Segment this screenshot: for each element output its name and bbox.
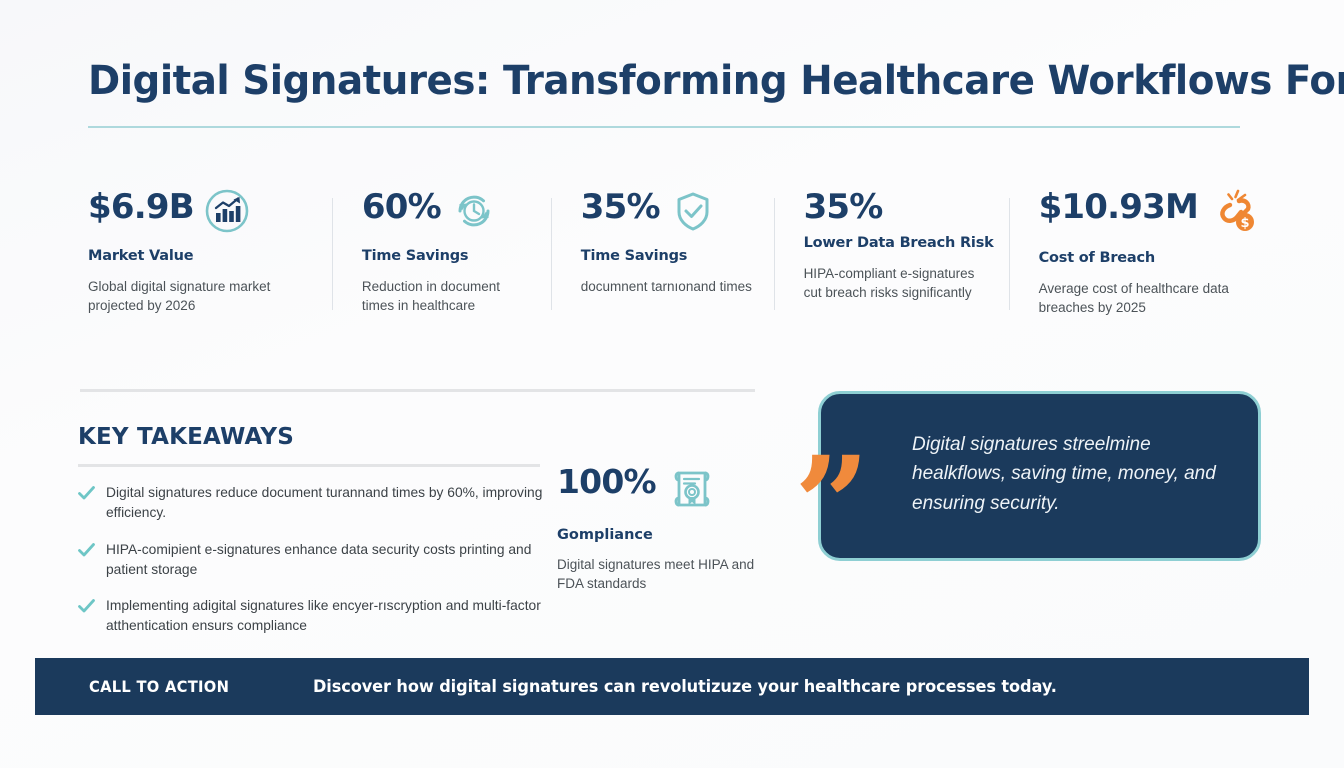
stat-label: Lower Data Breach Risk — [804, 235, 991, 251]
stat-label: Time Savings — [581, 248, 756, 264]
stat-card-time-savings-60: 60% Time Savings Reduction in document t… — [332, 190, 551, 330]
stat-label: Cost of Breach — [1039, 250, 1258, 266]
list-item-text: Digital signatures reduce document turan… — [106, 483, 548, 523]
stat-divider — [332, 198, 333, 310]
stat-description: Global digital signature market projecte… — [88, 277, 303, 315]
quote-mark-icon: ” — [794, 440, 864, 572]
key-takeaways-list: Digital signatures reduce document turan… — [78, 483, 548, 636]
key-takeaways-underline — [78, 464, 540, 467]
stat-description: documnent tarnıonand times — [581, 277, 756, 296]
stat-description: Average cost of healthcare data breaches… — [1039, 279, 1254, 317]
stat-label: Market Value — [88, 248, 314, 264]
shield-check-icon — [670, 188, 716, 239]
stat-label: Time Savings — [362, 248, 533, 264]
compliance-value: 100% — [557, 465, 656, 500]
stats-row: $6.9B Market Value Global digital signat… — [88, 190, 1258, 330]
list-item-text: Implementing adigital signatures like en… — [106, 596, 548, 636]
stat-description: HIPA-compliant e-signatures cut breach r… — [804, 264, 991, 302]
stat-header: 35% — [804, 190, 991, 226]
stat-card-market-value: $6.9B Market Value Global digital signat… — [88, 190, 332, 330]
stat-description: Reduction in document times in healthcar… — [362, 277, 533, 315]
stat-header: $6.9B — [88, 190, 314, 239]
list-item-text: HIPA-comipient e-signatures enhance data… — [106, 540, 548, 580]
section-divider — [80, 389, 755, 392]
cta-text: Discover how digital signatures can revo… — [313, 677, 1057, 697]
key-takeaways-heading: KEY TAKEAWAYS — [78, 424, 548, 450]
stat-card-cost-of-breach: $10.93M $ Cost of Breach Average cost of… — [1009, 190, 1258, 330]
list-item: HIPA-comipient e-signatures enhance data… — [78, 540, 548, 580]
key-takeaways-section: KEY TAKEAWAYS Digital signatures reduce … — [78, 424, 548, 653]
check-icon — [78, 599, 95, 619]
title-block: Digital Signatures: Transforming Healthc… — [88, 58, 1248, 128]
stat-header: 60% — [362, 190, 533, 239]
stat-value: 35% — [804, 190, 883, 226]
list-item: Implementing adigital signatures like en… — [78, 596, 548, 636]
stat-card-compliance: 100% Gompliance Digital signatures meet … — [557, 465, 772, 593]
stat-header: 35% — [581, 190, 756, 239]
stat-divider — [1009, 198, 1010, 310]
stat-value: 35% — [581, 190, 660, 226]
compliance-header: 100% — [557, 465, 772, 518]
svg-text:$: $ — [1240, 216, 1249, 231]
stat-card-breach-risk: 35% Lower Data Breach Risk HIPA-complian… — [774, 190, 1009, 330]
call-to-action-bar[interactable]: CALL TO ACTION Discover how digital sign… — [35, 658, 1309, 715]
broken-chain-dollar-icon: $ — [1208, 188, 1258, 241]
compliance-description: Digital signatures meet HIPA and FDA sta… — [557, 555, 772, 593]
check-icon — [78, 486, 95, 506]
clock-refresh-icon — [451, 188, 497, 239]
stat-value: $6.9B — [88, 190, 194, 226]
compliance-label: Gompliance — [557, 527, 772, 543]
certificate-seal-icon — [668, 465, 716, 518]
stat-divider — [774, 198, 775, 310]
check-icon — [78, 543, 95, 563]
stat-card-time-savings-35: 35% Time Savings documnent tarnıonand ti… — [551, 190, 774, 330]
page-title: Digital Signatures: Transforming Healthc… — [88, 58, 1213, 104]
stat-value: 60% — [362, 190, 441, 226]
stat-header: $10.93M $ — [1039, 190, 1258, 241]
list-item: Digital signatures reduce document turan… — [78, 483, 548, 523]
stat-value: $10.93M — [1039, 190, 1198, 226]
chart-growth-icon — [204, 188, 250, 239]
title-underline — [88, 126, 1240, 128]
stat-divider — [551, 198, 552, 310]
infographic-page: Digital Signatures: Transforming Healthc… — [0, 0, 1344, 768]
quote-text: Digital signatures streelmine healkflows… — [912, 430, 1242, 518]
cta-label: CALL TO ACTION — [89, 677, 229, 696]
